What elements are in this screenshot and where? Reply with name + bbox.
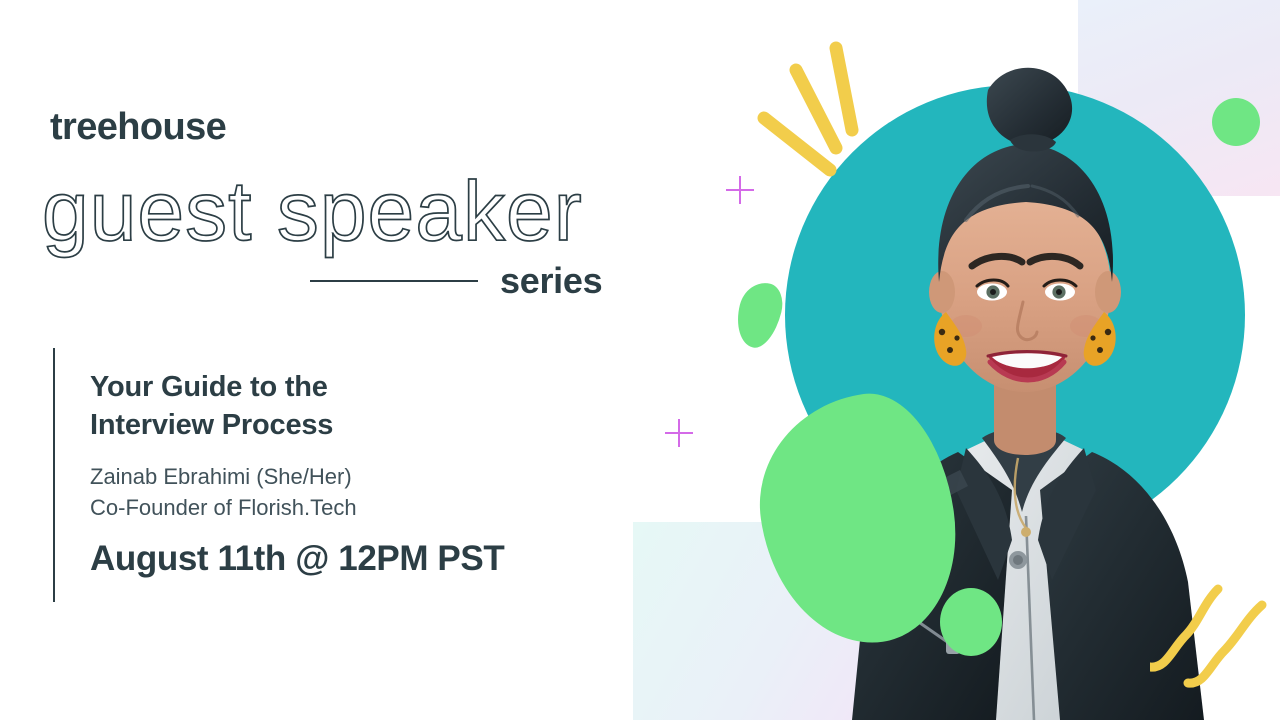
talk-title-line-2: Interview Process [90, 406, 650, 444]
event-details: Your Guide to the Interview Process Zain… [90, 368, 650, 579]
talk-title: Your Guide to the Interview Process [90, 368, 650, 445]
series-row: series [310, 258, 630, 304]
event-datetime: August 11th @ 12PM PST [90, 540, 650, 579]
brand-wordmark: treehouse [50, 108, 226, 146]
speaker-role: Co-Founder of Florish.Tech [90, 492, 650, 524]
series-divider-rule [310, 280, 478, 282]
series-label: series [500, 263, 602, 299]
magenta-plus-icon-upper [726, 176, 754, 204]
green-small-circle-icon [940, 588, 1002, 656]
vertical-divider-rule [53, 348, 55, 602]
slide-canvas: treehouse guest speaker series Your Guid… [0, 0, 1280, 720]
talk-title-line-1: Your Guide to the [90, 368, 650, 406]
headline-outline-text: guest speaker [42, 164, 583, 258]
text-column: treehouse guest speaker series Your Guid… [0, 0, 700, 720]
headline-outline: guest speaker [38, 158, 658, 268]
speaker-info: Zainab Ebrahimi (She/Her) Co-Founder of … [90, 461, 650, 525]
speaker-name: Zainab Ebrahimi (She/Her) [90, 461, 650, 493]
